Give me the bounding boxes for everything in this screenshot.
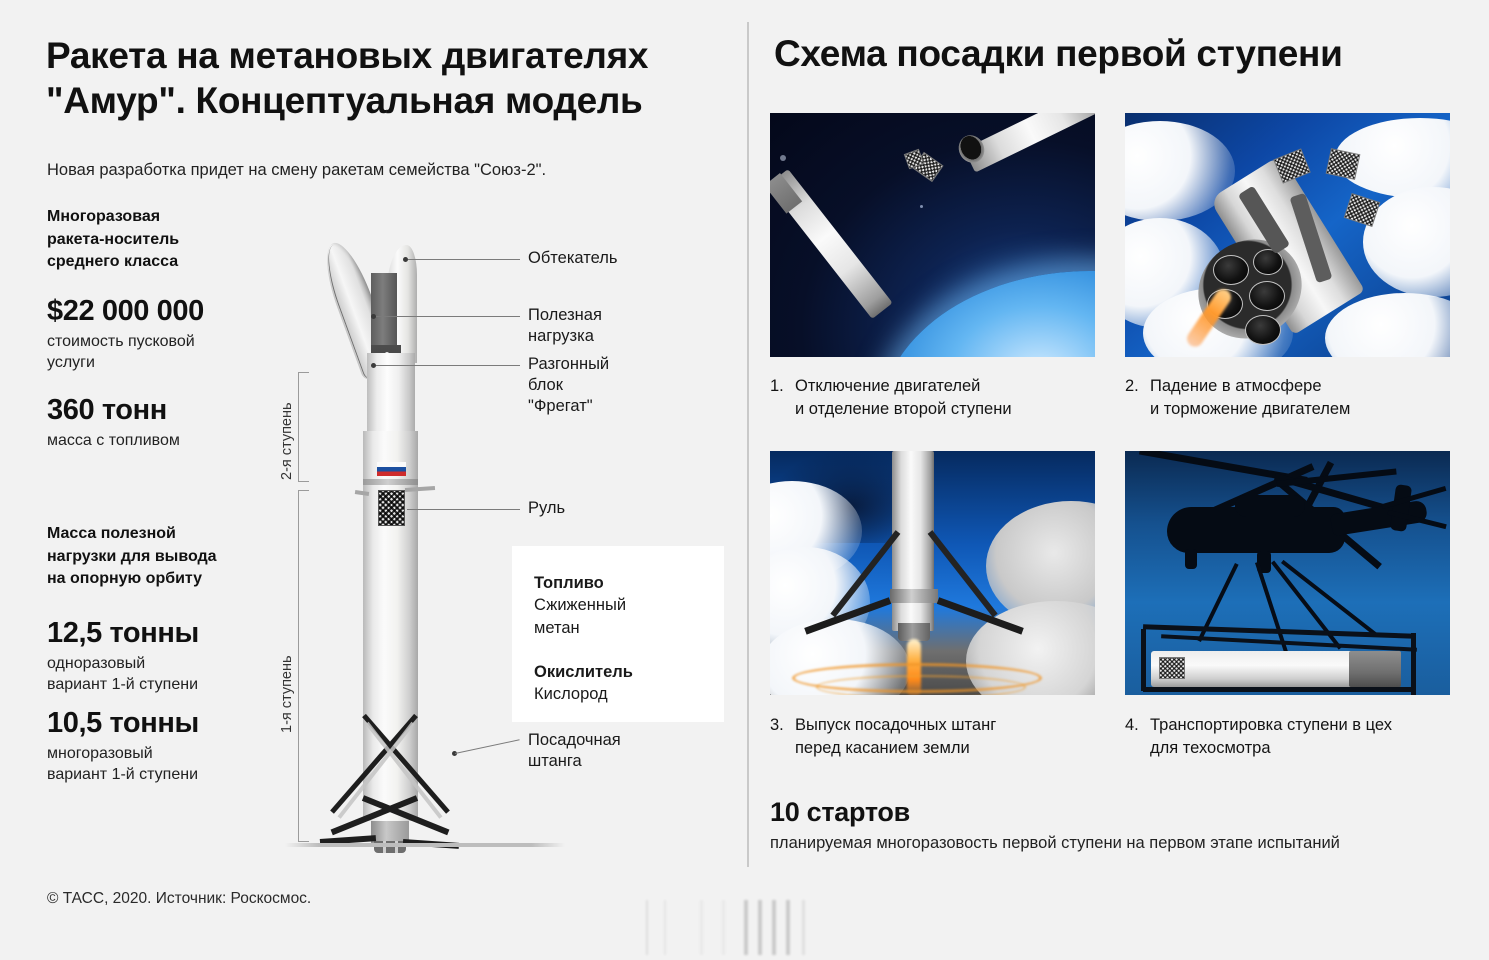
- rocket-illustration: [325, 235, 455, 860]
- stage2-bracket: [298, 372, 309, 482]
- step-3-caption: 3. Выпуск посадочных штанг перед касание…: [770, 714, 1110, 761]
- stat-label-payload-expendable: одноразовый вариант 1-й ступени: [47, 653, 277, 696]
- step-4-number: 4.: [1125, 714, 1139, 737]
- leader-line-rudder: [407, 509, 520, 510]
- callout-fregat: Разгонный блок "Фрегат": [528, 354, 609, 417]
- step-2-image: [1125, 113, 1450, 357]
- cradle-bottom-bar: [1143, 687, 1415, 692]
- step-1-number: 1.: [770, 375, 784, 398]
- stat-block-payload-expendable: 12,5 тонны одноразовый вариант 1-й ступе…: [47, 610, 277, 695]
- landing-stage-band: [890, 589, 938, 603]
- stat-heading-class: Многоразовая ракета-носитель среднего кл…: [47, 206, 277, 274]
- oxidizer-value: Кислород: [534, 683, 724, 705]
- ground-line: [285, 843, 565, 847]
- callout-payload: Полезная нагрузка: [528, 305, 602, 347]
- helicopter-rotor-hub: [1235, 495, 1305, 517]
- stat-label-mass: масса с топливом: [47, 430, 277, 451]
- stat-block-cost: $22 000 000 стоимость пусковой услуги: [47, 288, 277, 373]
- right-column: Схема посадки первой ступени: [748, 0, 1489, 960]
- stat-block-payload-reusable: 10,5 тонны многоразовый вариант 1-й ступ…: [47, 700, 277, 785]
- landing-stage-body: [892, 451, 934, 631]
- grid-fin-arm-left-icon: [355, 490, 369, 496]
- stat-value-payload-expendable: 12,5 тонны: [47, 616, 277, 651]
- stat-label-payload-reusable: многоразовый вариант 1-й ступени: [47, 743, 277, 786]
- step-2-caption: 2. Падение в атмосфере и торможение двиг…: [1125, 375, 1465, 422]
- footer-credit-left: © ТАСС, 2020. Источник: Роскосмос.: [47, 890, 311, 908]
- fuel-info-box: Топливо Сжиженный метан Окислитель Кисло…: [512, 546, 724, 722]
- stat-value-mass: 360 тонн: [47, 393, 277, 428]
- fuel-title: Топливо: [534, 572, 724, 594]
- stat-label-cost: стоимость пусковой услуги: [47, 331, 277, 374]
- step-3-image: [770, 451, 1095, 695]
- step-4-image: [1125, 451, 1450, 695]
- grid-fin-icon-4: [1159, 657, 1185, 679]
- step-1-text: Отключение двигателей и отделение второй…: [770, 375, 1110, 422]
- nozzle-3: [1249, 281, 1285, 311]
- stage1-bracket: [298, 490, 309, 842]
- oxidizer-title: Окислитель: [534, 661, 724, 683]
- page-title: Ракета на метановых двигателях "Амур". К…: [46, 33, 736, 123]
- stat-heading-payload: Масса полезной нагрузки для вывода на оп…: [47, 523, 277, 591]
- transported-stage-engine-end: [1349, 651, 1401, 687]
- flame-ring-3b: [816, 675, 1026, 695]
- cradle-right-post: [1411, 633, 1416, 695]
- stat-block-mass: 360 тонн масса с топливом: [47, 387, 277, 451]
- step-4-caption: 4. Транспортировка ступени в цех для тех…: [1125, 714, 1465, 761]
- callout-rudder: Руль: [528, 498, 565, 519]
- nozzle-1: [1213, 255, 1249, 285]
- step-2-number: 2.: [1125, 375, 1139, 398]
- russian-flag-icon: [377, 462, 406, 476]
- callout-landing-leg: Посадочная штанга: [528, 730, 621, 772]
- cradle-left-post: [1141, 629, 1146, 691]
- starts-label: планируемая многоразовость первой ступен…: [770, 834, 1470, 853]
- leader-line-fairing: [408, 259, 520, 260]
- left-column: Ракета на метановых двигателях "Амур". К…: [0, 0, 748, 960]
- step-4-text: Транспортировка ступени в цех для техосм…: [1125, 714, 1465, 761]
- callout-fairing: Обтекатель: [528, 248, 617, 269]
- stat-value-payload-reusable: 10,5 тонны: [47, 706, 277, 741]
- step-1-image: [770, 113, 1095, 357]
- leader-line-payload: [376, 316, 520, 317]
- step-3-text: Выпуск посадочных штанг перед касанием з…: [770, 714, 1110, 761]
- grid-fin-icon: [378, 490, 405, 526]
- infographic-page: Ракета на метановых двигателях "Амур". К…: [0, 0, 1489, 960]
- step-1-caption: 1. Отключение двигателей и отделение вто…: [770, 375, 1110, 422]
- rocket-diagram: 2-я ступень 1-я ступень: [255, 235, 555, 860]
- stat-value-cost: $22 000 000: [47, 294, 277, 329]
- right-section-title: Схема посадки первой ступени: [774, 33, 1474, 75]
- leader-line-fregat: [376, 365, 520, 366]
- interstage-band-icon: [363, 479, 418, 485]
- stat-block-payload-heading: Масса полезной нагрузки для вывода на оп…: [47, 523, 277, 591]
- stage2-label: 2-я ступень: [279, 402, 295, 480]
- page-subtitle: Новая разработка придет на смену ракетам…: [47, 160, 707, 181]
- stat-block-class: Многоразовая ракета-носитель среднего кл…: [47, 206, 277, 274]
- leader-line-landing-leg: [455, 739, 520, 754]
- stage1-label: 1-я ступень: [279, 655, 295, 733]
- nozzle-4: [1245, 315, 1281, 345]
- starts-value: 10 стартов: [770, 797, 910, 828]
- step-3-number: 3.: [770, 714, 784, 737]
- landing-gear-1: [1185, 549, 1197, 569]
- fuel-value: Сжиженный метан: [534, 594, 724, 639]
- nozzle-5: [1253, 249, 1283, 275]
- step-2-text: Падение в атмосфере и торможение двигате…: [1125, 375, 1465, 422]
- grid-fin-arm-right-icon: [405, 486, 435, 492]
